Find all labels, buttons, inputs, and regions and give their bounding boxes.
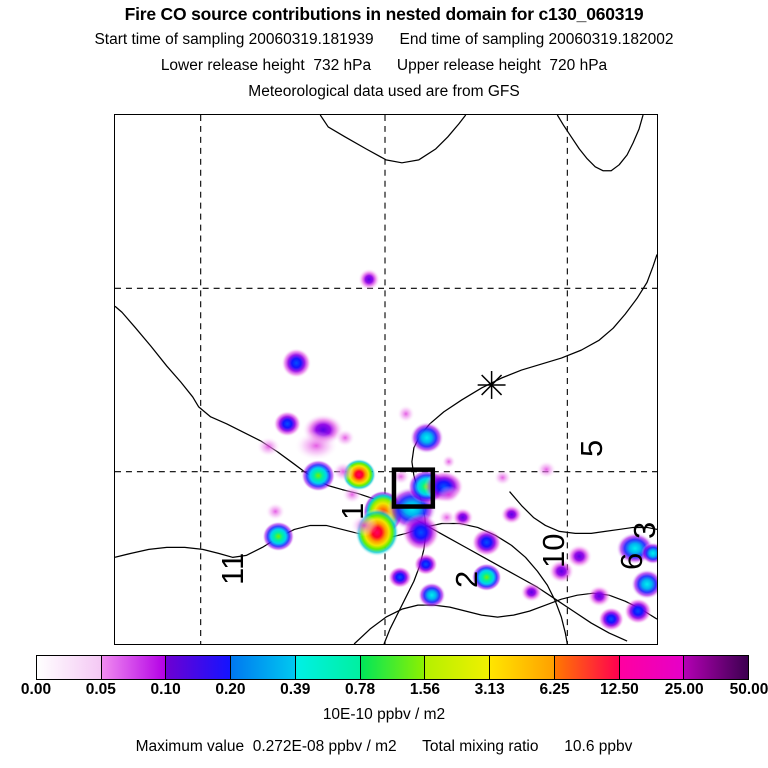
- region-label-2: 2: [451, 571, 482, 588]
- region-label-5: 5: [576, 440, 607, 457]
- region-label-10: 10: [538, 534, 569, 568]
- colorbar-segment-3: [231, 656, 296, 679]
- colorbar-tick-2: 0.10: [151, 681, 181, 699]
- release-heights: Lower release height 732 hPa Upper relea…: [0, 57, 768, 75]
- colorbar-tick-labels: 0.000.050.100.200.390.781.563.136.2512.5…: [0, 681, 768, 701]
- release-location-asterisk: [478, 371, 506, 399]
- figure-title: Fire CO source contributions in nested d…: [0, 4, 768, 25]
- colorbar-tick-1: 0.05: [86, 681, 116, 699]
- colorbar-segment-1: [102, 656, 167, 679]
- figure-root: Fire CO source contributions in nested d…: [0, 0, 768, 768]
- colorbar-segment-6: [425, 656, 490, 679]
- colorbar-segment-2: [166, 656, 231, 679]
- colorbar-tick-6: 1.56: [410, 681, 440, 699]
- colorbar-tick-9: 12.50: [600, 681, 639, 699]
- colorbar-tick-3: 0.20: [215, 681, 245, 699]
- colorbar-tick-4: 0.39: [280, 681, 310, 699]
- colorbar[interactable]: [36, 655, 749, 680]
- colorbar-segment-5: [361, 656, 426, 679]
- region-label-6: 6: [616, 553, 647, 570]
- colorbar-tick-5: 0.78: [345, 681, 375, 699]
- met-data-source: Meteorological data used are from GFS: [0, 83, 768, 101]
- colorbar-tick-7: 3.13: [475, 681, 505, 699]
- colorbar-tick-10: 25.00: [665, 681, 704, 699]
- colorbar-segment-0: [37, 656, 102, 679]
- colorbar-tick-0: 0.00: [21, 681, 51, 699]
- colorbar-segment-4: [296, 656, 361, 679]
- colorbar-unit-label: 10E-10 ppbv / m2: [0, 706, 768, 724]
- summary-statistics: Maximum value 0.272E-08 ppbv / m2 Total …: [0, 738, 768, 756]
- colorbar-tick-8: 6.25: [539, 681, 569, 699]
- sampling-times: Start time of sampling 20060319.181939 E…: [0, 31, 768, 49]
- colorbar-segment-10: [684, 656, 748, 679]
- colorbar-tick-11: 50.00: [730, 681, 768, 699]
- region-label-3: 3: [629, 522, 658, 539]
- map-svg: [115, 115, 657, 644]
- region-label-11: 11: [217, 553, 248, 585]
- colorbar-segment-9: [620, 656, 685, 679]
- colorbar-segment-8: [555, 656, 620, 679]
- colorbar-segment-7: [490, 656, 555, 679]
- region-label-1: 1: [337, 503, 368, 520]
- map-panel: 1 11 2 10 5 3 6: [114, 114, 658, 645]
